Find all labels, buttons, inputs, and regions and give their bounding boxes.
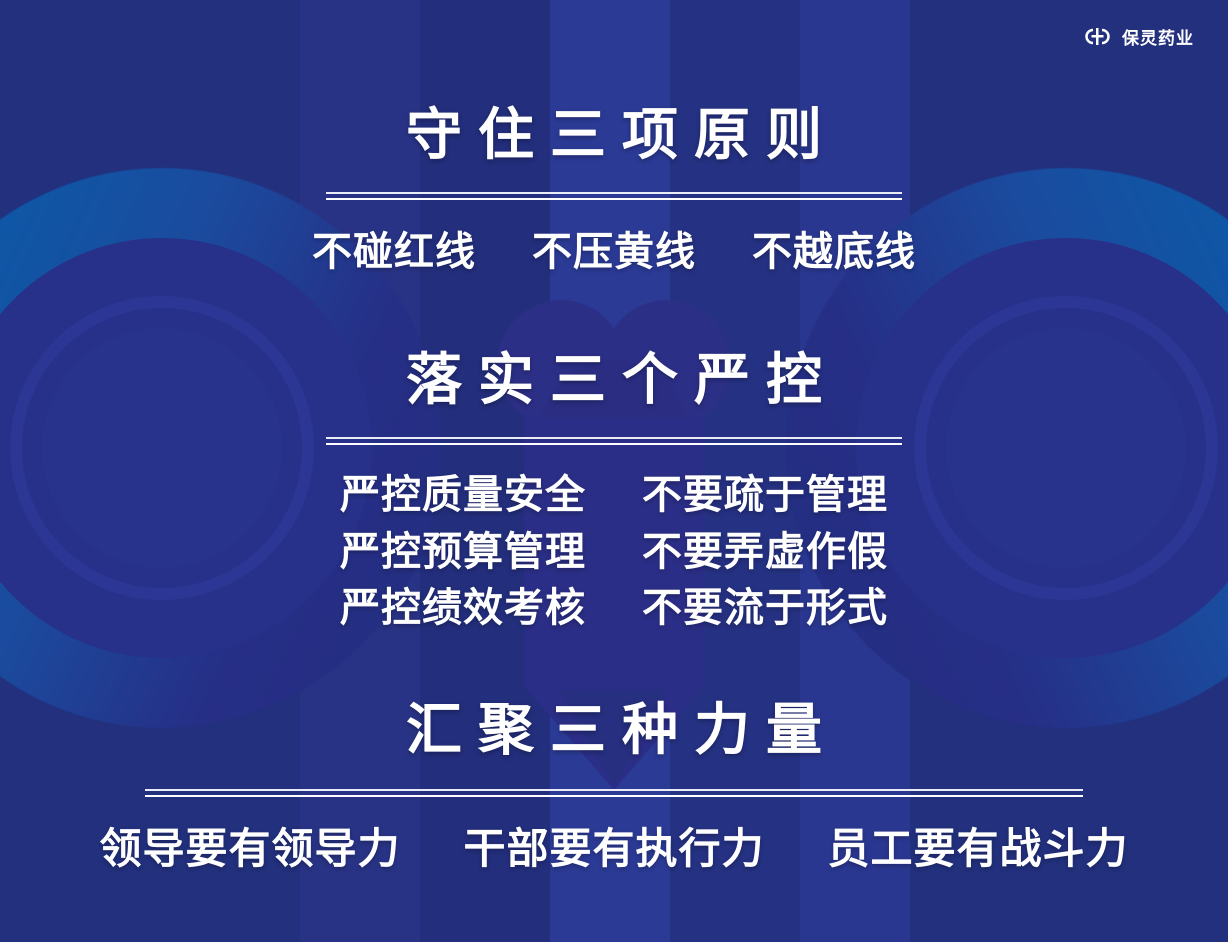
slide-content: 守住三项原则 不碰红线 不压黄线 不越底线 落实三个严控 严控质量安全 不要疏于… [0,0,1228,942]
line-part: 不越底线 [752,229,916,274]
section-line: 严控绩效考核 不要流于形式 [0,580,1228,637]
line-part: 员工要有战斗力 [828,827,1129,873]
brand-name: 保灵药业 [1122,24,1194,49]
line-part: 干部要有执行力 [463,827,764,873]
section-line: 严控质量安全 不要疏于管理 [0,467,1228,524]
section-line: 领导要有领导力 干部要有执行力 员工要有战斗力 [0,821,1228,881]
section-heading: 守住三项原则 [0,108,1228,164]
line-part: 不要弄虚作假 [642,529,888,574]
line-part: 不压黄线 [532,229,696,274]
section-line: 严控预算管理 不要弄虚作假 [0,524,1228,581]
section-controls: 落实三个严控 严控质量安全 不要疏于管理 严控预算管理 不要弄虚作假 严控绩效考… [0,353,1228,637]
section-principles: 守住三项原则 不碰红线 不压黄线 不越底线 [0,108,1228,281]
brand-logo: 保灵药业 [1083,24,1194,49]
section-forces: 汇聚三种力量 领导要有领导力 干部要有执行力 员工要有战斗力 [0,703,1228,881]
line-part: 不碰红线 [312,229,476,274]
section-divider [326,192,902,200]
section-divider [145,789,1083,797]
section-line: 不碰红线 不压黄线 不越底线 [0,224,1228,281]
line-part: 领导要有领导力 [99,827,400,873]
section-heading: 落实三个严控 [0,353,1228,409]
section-lines: 严控质量安全 不要疏于管理 严控预算管理 不要弄虚作假 严控绩效考核 不要流于形… [0,467,1228,637]
section-divider [326,437,902,445]
line-part: 严控预算管理 [340,529,586,574]
line-part: 严控绩效考核 [340,585,586,630]
line-part: 不要流于形式 [642,585,888,630]
slide-root: 保灵药业 守住三项原则 不碰红线 不压黄线 不越底线 落实三个严控 严控质量安全 [0,0,1228,942]
section-heading: 汇聚三种力量 [0,703,1228,759]
line-part: 严控质量安全 [340,472,586,517]
line-part: 不要疏于管理 [642,472,888,517]
cd-monogram-icon [1083,27,1113,46]
